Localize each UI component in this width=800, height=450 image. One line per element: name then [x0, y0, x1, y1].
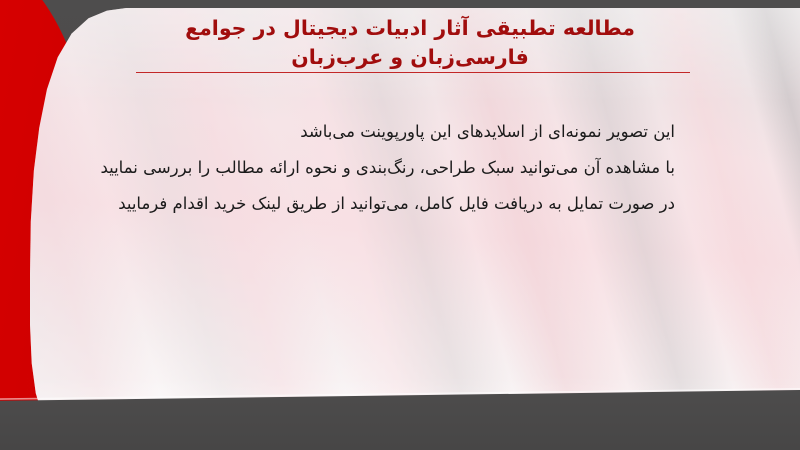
- title-divider-rule: [136, 72, 690, 73]
- body-line-2: با مشاهده آن می‌توانید سبک طراحی، رنگ‌بن…: [115, 150, 675, 186]
- title-line-1: مطالعه تطبیقی آثار ادبیات دیجیتال در جوا…: [110, 14, 710, 43]
- title-line-2: فارسی‌زبان و عرب‌زبان: [110, 43, 710, 72]
- slide-title: مطالعه تطبیقی آثار ادبیات دیجیتال در جوا…: [110, 14, 710, 72]
- body-line-3: در صورت تمایل به دریافت فایل کامل، می‌تو…: [115, 186, 675, 222]
- slide-body-text: این تصویر نمونه‌ای از اسلایدهای این پاور…: [115, 114, 675, 221]
- body-line-1: این تصویر نمونه‌ای از اسلایدهای این پاور…: [115, 114, 675, 150]
- presentation-slide: مطالعه تطبیقی آثار ادبیات دیجیتال در جوا…: [0, 0, 800, 450]
